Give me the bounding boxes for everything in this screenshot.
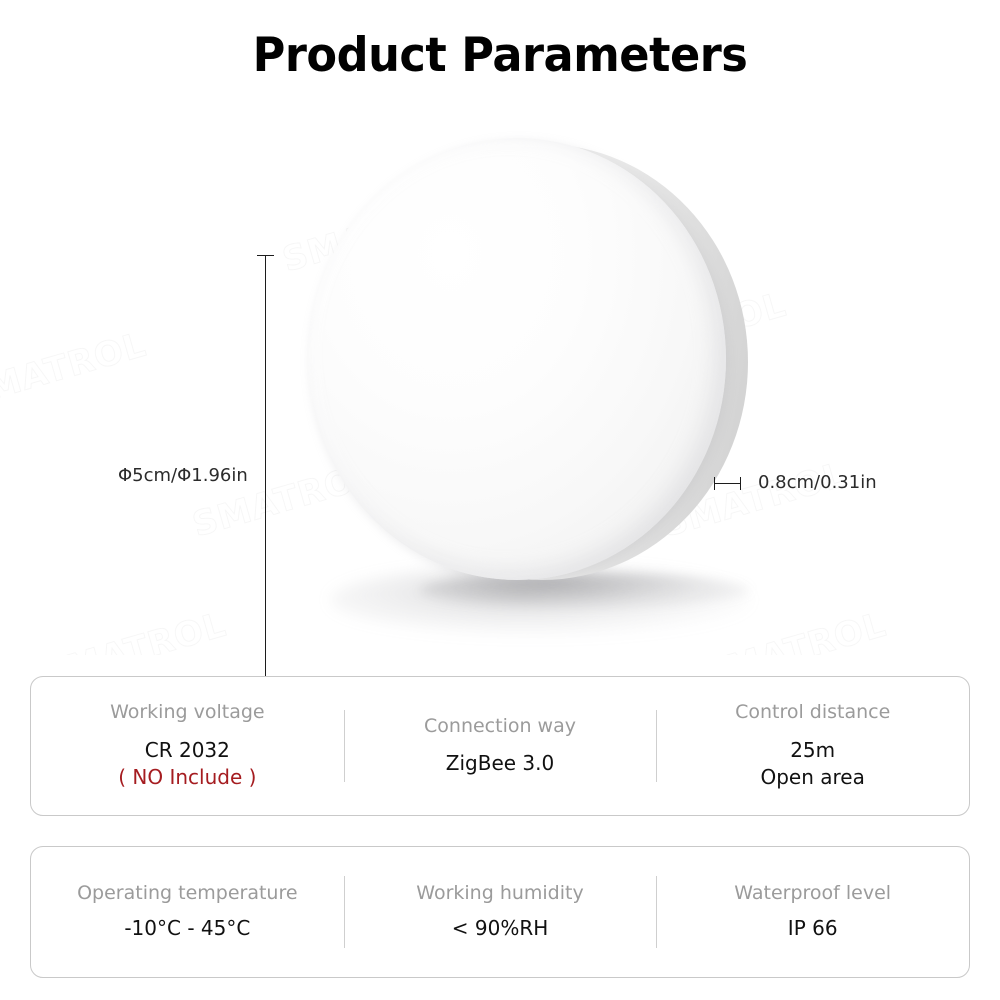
product-image-area: SMATROL SMATROL SMATROL SMATROL SMATROL … [0,110,1000,655]
spec-label: Waterproof level [734,882,891,905]
spec-note: ( NO Include ) [118,764,256,791]
spec-label: Connection way [424,715,576,738]
spec-card-row-2: Operating temperature -10°C - 45°C Worki… [30,846,970,978]
spec-cell-waterproof-level: Waterproof level IP 66 [656,847,969,977]
spec-cell-working-humidity: Working humidity < 90%RH [344,847,657,977]
spec-label: Operating temperature [77,882,297,905]
spec-value: CR 2032 [145,737,230,764]
diameter-dimension-label: Φ5cm/Φ1.96in [118,465,248,486]
spec-value: 25m [790,737,835,764]
spec-label: Working humidity [416,882,583,905]
watermark-text: SMATROL [0,325,151,416]
spec-value: -10°C - 45°C [124,915,250,942]
spec-cell-control-distance: Control distance 25m Open area [656,677,969,815]
spec-cell-connection-way: Connection way ZigBee 3.0 [344,677,657,815]
spec-cell-operating-temperature: Operating temperature -10°C - 45°C [31,847,344,977]
spec-label: Control distance [735,701,890,724]
spec-label: Working voltage [110,701,265,724]
spec-cell-working-voltage: Working voltage CR 2032 ( NO Include ) [31,677,344,815]
spec-value: ZigBee 3.0 [446,750,554,777]
diameter-dimension-line [265,255,266,698]
thickness-dimension-line [714,483,741,484]
page-title: Product Parameters [25,28,975,83]
thickness-dimension-label: 0.8cm/0.31in [758,472,877,493]
spec-value: IP 66 [788,915,838,942]
spec-card-row-1: Working voltage CR 2032 ( NO Include ) C… [30,676,970,816]
product-disc [308,138,748,586]
watermark-text: SMATROL [38,605,231,655]
spec-note: Open area [760,764,864,791]
disc-top-face [308,138,726,580]
spec-value: < 90%RH [452,915,549,942]
